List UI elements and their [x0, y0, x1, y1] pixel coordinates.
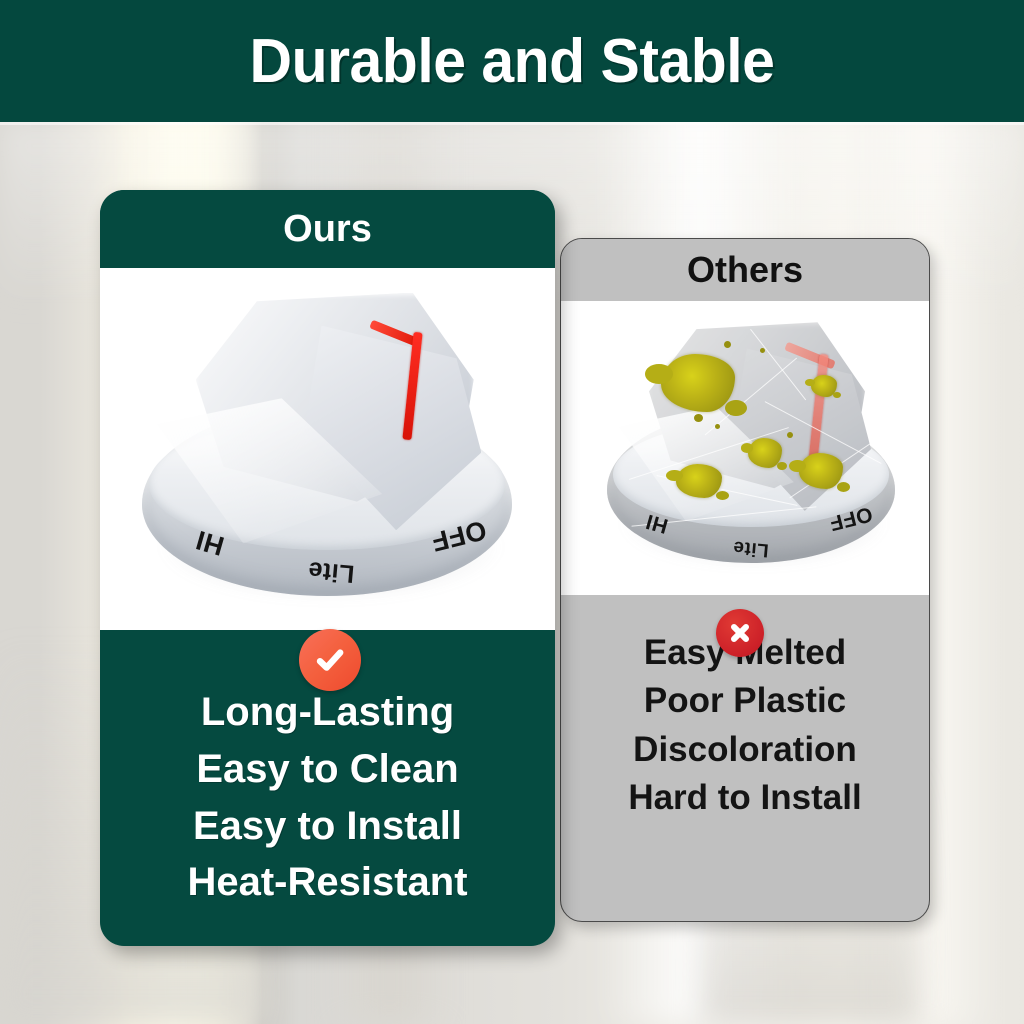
page-title: Durable and Stable	[26, 0, 999, 122]
comparison-infographic: Durable and Stable Others	[0, 0, 1024, 1024]
ours-card: Ours HI Lite OFF Long-Lasting Easy to Cl…	[100, 190, 555, 946]
ours-feature-item: Easy to Clean	[110, 741, 545, 798]
knob-label-lite: Lite	[307, 555, 356, 588]
x-circle-icon	[716, 609, 764, 657]
grease-stain	[748, 438, 782, 468]
ours-card-heading: Ours	[100, 190, 555, 268]
grease-stain	[811, 375, 837, 397]
check-circle-icon	[299, 629, 361, 691]
ours-feature-item: Heat-Resistant	[110, 854, 545, 911]
others-feature-item: Poor Plastic	[569, 677, 921, 725]
others-feature-item: Discoloration	[569, 726, 921, 774]
header-divider	[0, 122, 1024, 125]
header-banner: Durable and Stable	[0, 0, 1024, 122]
others-card-heading: Others	[561, 239, 929, 301]
stove-knob-worn-illustration: HI Lite OFF	[601, 317, 901, 579]
ours-feature-item: Easy to Install	[110, 798, 545, 855]
others-product-photo: HI Lite OFF	[561, 301, 929, 595]
grease-stain	[676, 464, 722, 498]
others-card: Others	[560, 238, 930, 922]
grease-speck	[724, 341, 731, 348]
others-feature-item: Hard to Install	[569, 774, 921, 822]
knob-label-lite: Lite	[732, 536, 770, 561]
ours-feature-item: Long-Lasting	[110, 684, 545, 741]
grease-speck	[694, 414, 703, 422]
stove-knob-clean-illustration: HI Lite OFF	[134, 286, 520, 616]
ours-product-photo: HI Lite OFF	[100, 268, 555, 630]
grease-stain	[661, 354, 735, 412]
